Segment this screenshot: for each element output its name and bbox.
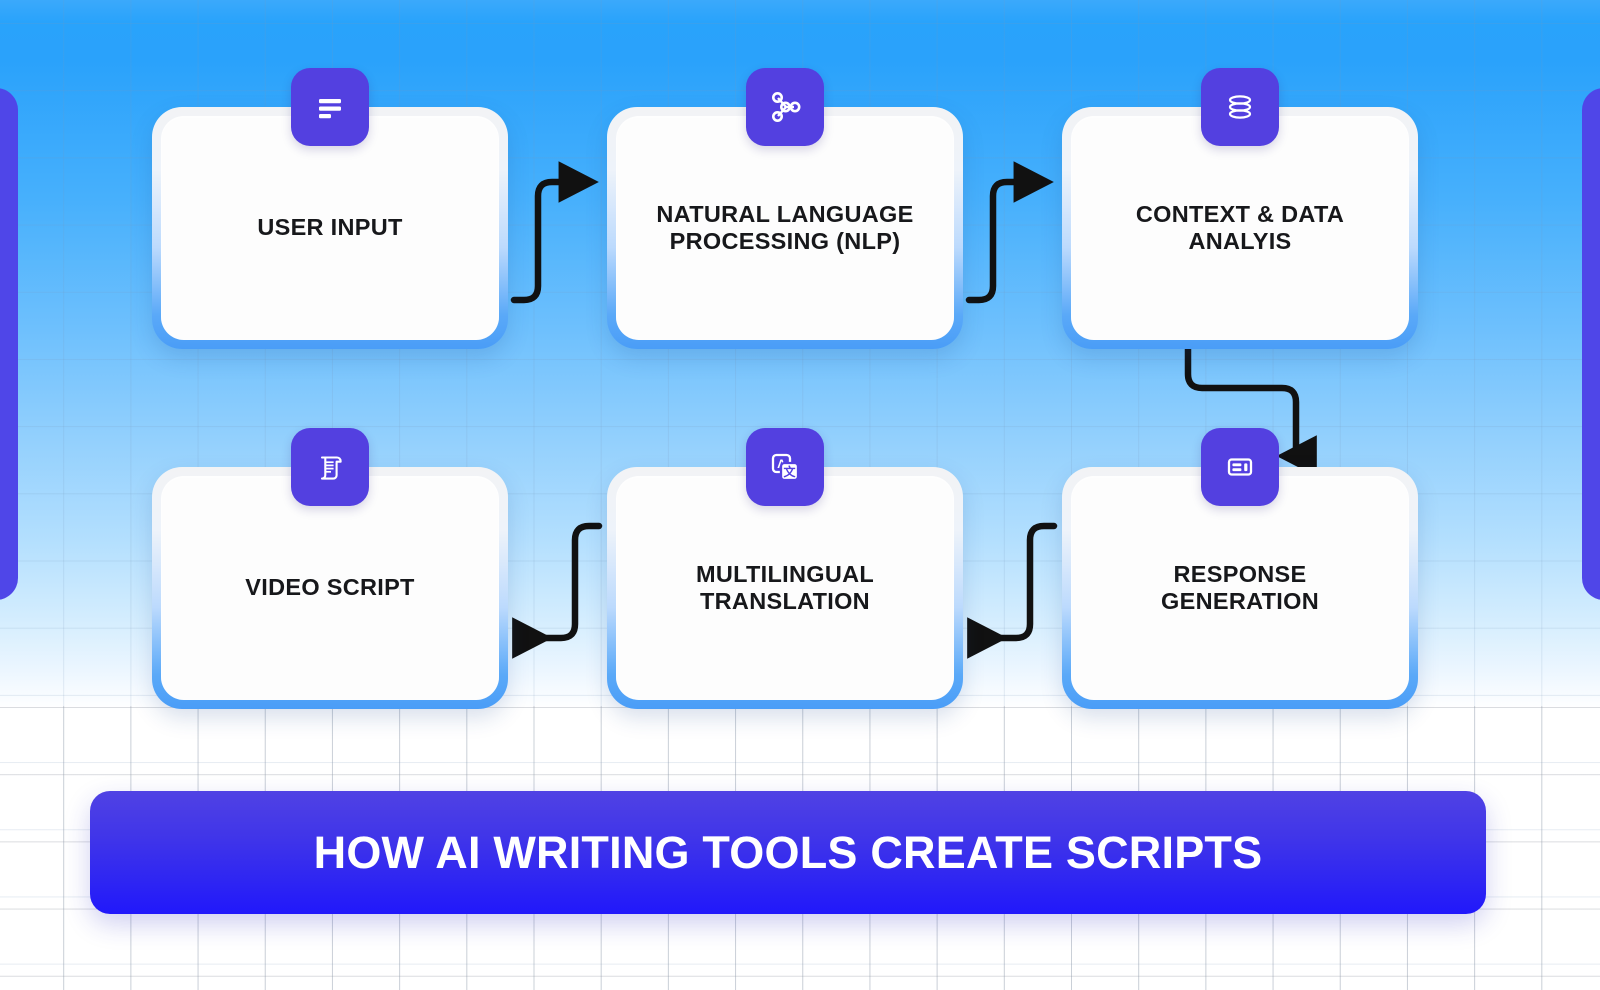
flow-card-label: MULTILINGUAL TRANSLATION <box>682 561 888 616</box>
flow-card-label: VIDEO SCRIPT <box>231 574 428 601</box>
flow-card-label: USER INPUT <box>243 214 416 241</box>
edge-pillar-right <box>1582 88 1600 600</box>
flow-card-response-generation[interactable]: RESPONSE GENERATION <box>1062 467 1418 709</box>
infographic-canvas: USER INPUT NATURAL LANGUAGE PROCESSING (… <box>0 0 1600 990</box>
card-surface: RESPONSE GENERATION <box>1071 476 1409 700</box>
flow-card-nlp[interactable]: NATURAL LANGUAGE PROCESSING (NLP) <box>607 107 963 349</box>
node-graph-icon <box>746 68 824 146</box>
translate-icon: A 文 <box>746 428 824 506</box>
text-lines-icon <box>291 68 369 146</box>
database-stack-icon <box>1201 68 1279 146</box>
card-surface: CONTEXT & DATA ANALYIS <box>1071 116 1409 340</box>
card-surface: VIDEO SCRIPT <box>161 476 499 700</box>
flow-card-multilingual-translation[interactable]: MULTILINGUAL TRANSLATION A 文 <box>607 467 963 709</box>
edge-pillar-left <box>0 88 18 600</box>
flow-card-label: CONTEXT & DATA ANALYIS <box>1122 201 1358 256</box>
card-surface: USER INPUT <box>161 116 499 340</box>
banner-title: HOW AI WRITING TOOLS CREATE SCRIPTS <box>314 827 1263 879</box>
card-surface: NATURAL LANGUAGE PROCESSING (NLP) <box>616 116 954 340</box>
flow-card-video-script[interactable]: VIDEO SCRIPT <box>152 467 508 709</box>
scroll-document-icon <box>291 428 369 506</box>
card-surface: MULTILINGUAL TRANSLATION <box>616 476 954 700</box>
flow-card-user-input[interactable]: USER INPUT <box>152 107 508 349</box>
svg-text:文: 文 <box>783 464 796 479</box>
title-banner: HOW AI WRITING TOOLS CREATE SCRIPTS <box>90 791 1486 914</box>
flow-card-label: NATURAL LANGUAGE PROCESSING (NLP) <box>642 201 927 256</box>
flow-card-context-data-analysis[interactable]: CONTEXT & DATA ANALYIS <box>1062 107 1418 349</box>
article-layout-icon <box>1201 428 1279 506</box>
flow-card-label: RESPONSE GENERATION <box>1147 561 1333 616</box>
